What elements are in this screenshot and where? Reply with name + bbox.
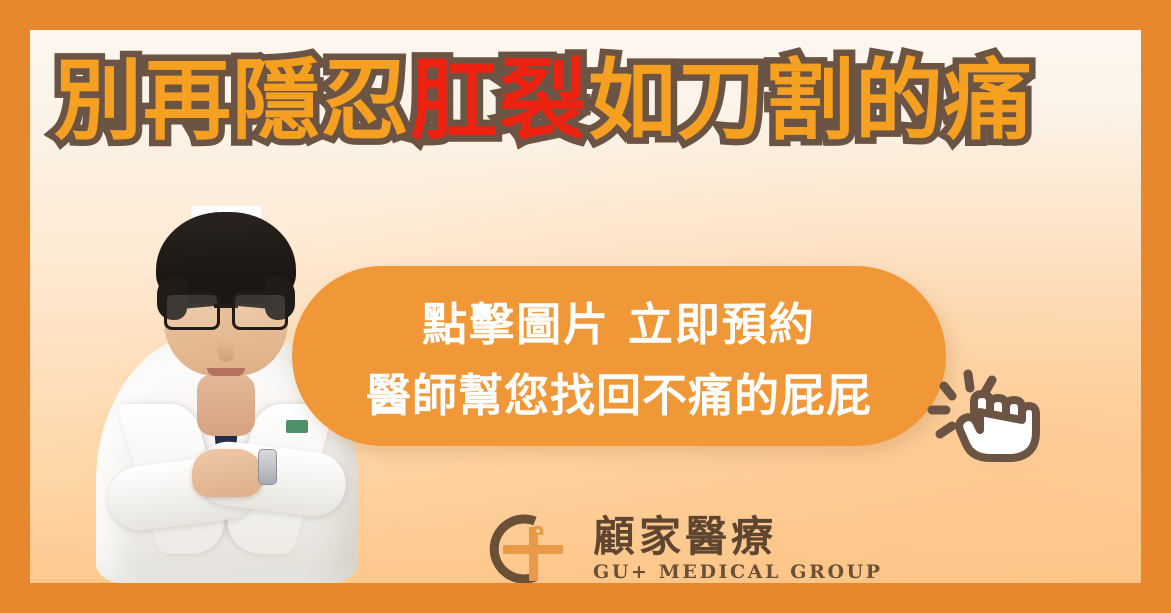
cta-line-1: 點擊圖片 立即預約 <box>422 288 816 353</box>
headline-highlight: 肛裂 <box>410 49 588 152</box>
advertisement-banner[interactable]: 別再隱忍肛裂如刀割的痛 <box>0 0 1171 613</box>
lens-left <box>164 292 220 330</box>
headline-part-2: 如刀割的痛 <box>588 49 1033 152</box>
lens-right <box>232 292 288 330</box>
eyeglasses-icon <box>164 292 288 326</box>
doctor-neck <box>197 374 255 436</box>
doctor-caption: 大腸直腸科陳信宏醫師 <box>74 578 334 583</box>
doctor-mouth <box>207 368 245 376</box>
gu-plus-bird-mark <box>473 513 577 583</box>
headline: 別再隱忍肛裂如刀割的痛 <box>54 57 1124 145</box>
brand-logo: 顧家醫療 GU+ MEDICAL GROUP <box>473 510 883 583</box>
cta-line-2: 醫師幫您找回不痛的屁屁 <box>366 359 872 424</box>
logo-wordmark: 顧家醫療 GU+ MEDICAL GROUP <box>593 515 883 583</box>
doctor-nose <box>218 340 234 362</box>
doctor-hand <box>192 449 264 497</box>
hand-palm <box>959 406 1036 458</box>
wristwatch-icon <box>258 449 277 485</box>
doctor-crossed-arms <box>108 433 346 525</box>
coat-pocket-badge <box>286 420 308 433</box>
headline-part-1: 別再隱忍 <box>54 49 410 152</box>
banner-canvas: 別再隱忍肛裂如刀割的痛 <box>30 30 1141 583</box>
cta-button[interactable]: 點擊圖片 立即預約 醫師幫您找回不痛的屁屁 <box>292 266 946 446</box>
doctor-hair <box>156 212 296 304</box>
logo-name-cn: 顧家醫療 <box>593 515 777 559</box>
tap-hand-icon <box>916 352 1048 470</box>
logo-name-en: GU+ MEDICAL GROUP <box>593 561 883 583</box>
